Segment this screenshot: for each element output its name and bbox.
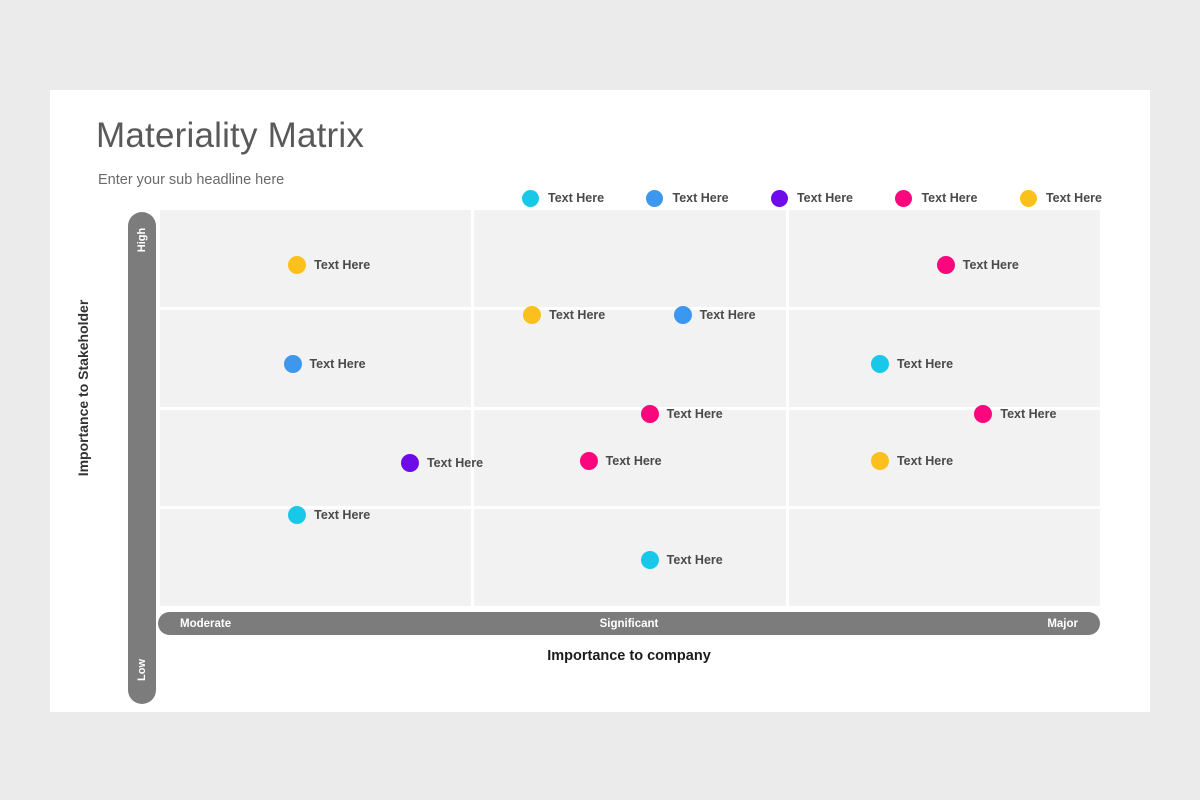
legend-item[interactable]: Text Here <box>1020 190 1102 207</box>
data-point-label: Text Here <box>963 258 1019 272</box>
data-point-label: Text Here <box>606 454 662 468</box>
data-point-label: Text Here <box>667 553 723 567</box>
x-axis-tick-major: Major <box>1047 618 1078 630</box>
data-point[interactable]: Text Here <box>674 306 756 324</box>
data-point-dot-icon <box>641 405 659 423</box>
legend-color-dot-icon <box>771 190 788 207</box>
data-point-dot-icon <box>674 306 692 324</box>
legend-item-label: Text Here <box>797 191 853 205</box>
data-point[interactable]: Text Here <box>283 355 365 373</box>
legend-item[interactable]: Text Here <box>771 190 853 207</box>
data-point-label: Text Here <box>314 258 370 272</box>
legend-color-dot-icon <box>646 190 663 207</box>
data-point[interactable]: Text Here <box>937 256 1019 274</box>
legend-item[interactable]: Text Here <box>522 190 604 207</box>
data-point-dot-icon <box>401 454 419 472</box>
data-point-dot-icon <box>283 355 301 373</box>
data-point[interactable]: Text Here <box>523 306 605 324</box>
legend: Text HereText HereText HereText HereText… <box>522 186 1102 210</box>
data-point-label: Text Here <box>427 456 483 470</box>
data-point[interactable]: Text Here <box>580 452 662 470</box>
legend-color-dot-icon <box>895 190 912 207</box>
screenshot-canvas: Materiality Matrix Enter your sub headli… <box>0 0 1200 800</box>
legend-item-label: Text Here <box>672 191 728 205</box>
data-point[interactable]: Text Here <box>974 405 1056 423</box>
x-axis-tick-significant: Significant <box>600 618 659 630</box>
data-point-dot-icon <box>974 405 992 423</box>
legend-item[interactable]: Text Here <box>646 190 728 207</box>
data-point-dot-icon <box>523 306 541 324</box>
data-point-label: Text Here <box>314 508 370 522</box>
data-point-dot-icon <box>937 256 955 274</box>
data-point-dot-icon <box>871 355 889 373</box>
matrix-plot-area: Text HereText HereText HereText HereText… <box>160 210 1100 606</box>
data-point-dot-icon <box>288 506 306 524</box>
legend-item-label: Text Here <box>921 191 977 205</box>
data-point-label: Text Here <box>549 308 605 322</box>
legend-item-label: Text Here <box>1046 191 1102 205</box>
page-title: Materiality Matrix <box>96 117 364 156</box>
legend-color-dot-icon <box>1020 190 1037 207</box>
data-point[interactable]: Text Here <box>641 551 723 569</box>
legend-item-label: Text Here <box>548 191 604 205</box>
x-axis-scale-bar: Moderate Significant Major <box>158 612 1100 635</box>
data-point-label: Text Here <box>897 454 953 468</box>
y-axis-low-label: Low <box>136 656 148 684</box>
data-point-label: Text Here <box>667 407 723 421</box>
y-axis-scale-bar: High Low <box>128 212 156 704</box>
x-axis-title: Importance to company <box>158 648 1100 664</box>
y-axis-title: Importance to Stakeholder <box>75 238 91 538</box>
data-point[interactable]: Text Here <box>871 355 953 373</box>
data-point-label: Text Here <box>309 357 365 371</box>
data-point-label: Text Here <box>700 308 756 322</box>
legend-color-dot-icon <box>522 190 539 207</box>
data-point-label: Text Here <box>1000 407 1056 421</box>
data-point-label: Text Here <box>897 357 953 371</box>
legend-item[interactable]: Text Here <box>895 190 977 207</box>
data-point[interactable]: Text Here <box>641 405 723 423</box>
x-axis-tick-moderate: Moderate <box>180 618 231 630</box>
slide-card: Materiality Matrix Enter your sub headli… <box>50 90 1150 712</box>
data-point[interactable]: Text Here <box>401 454 483 472</box>
data-point-dot-icon <box>580 452 598 470</box>
data-point[interactable]: Text Here <box>288 256 370 274</box>
data-point-dot-icon <box>288 256 306 274</box>
page-subtitle: Enter your sub headline here <box>98 172 284 188</box>
data-point-dot-icon <box>871 452 889 470</box>
data-points-layer: Text HereText HereText HereText HereText… <box>160 210 1100 606</box>
data-point[interactable]: Text Here <box>288 506 370 524</box>
data-point-dot-icon <box>641 551 659 569</box>
data-point[interactable]: Text Here <box>871 452 953 470</box>
y-axis-high-label: High <box>136 226 148 254</box>
